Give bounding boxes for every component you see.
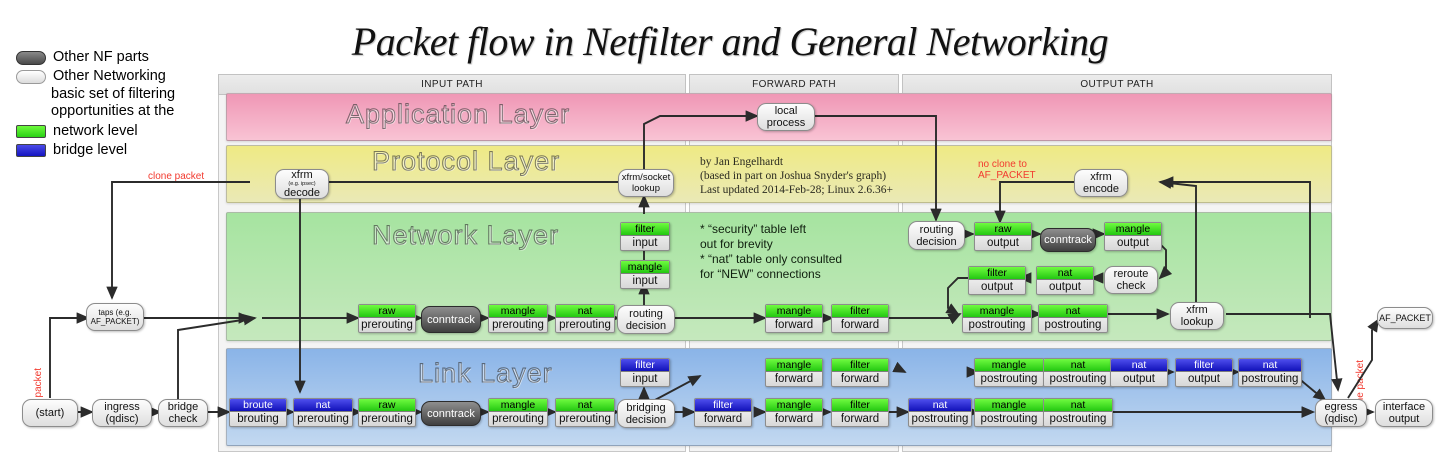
table-name: filter: [832, 305, 888, 318]
node-xfrm-decode[interactable]: xfrm (e.g. ipsec) decode: [275, 169, 329, 199]
node-taps-line2: AF_PACKET): [91, 317, 140, 326]
node-ingress-line1: ingress: [104, 401, 139, 413]
chain-name: postrouting: [975, 412, 1043, 426]
table-box-link-filter-input[interactable]: filter input: [620, 358, 670, 387]
chain-name: output: [1105, 236, 1161, 250]
legend-item-bridge-level: bridge level: [16, 141, 216, 160]
node-conntrack-net-out-label: conntrack: [1044, 234, 1092, 246]
node-routing-decision-output[interactable]: routing decision: [908, 221, 965, 250]
table-name: nat: [294, 399, 352, 412]
node-egress-qdisc[interactable]: egress (qdisc): [1315, 399, 1367, 427]
table-box-net-mangle-postrouting[interactable]: mangle postrouting: [962, 304, 1032, 333]
table-name: nat: [1044, 399, 1112, 412]
node-xfrm-encode[interactable]: xfrm encode: [1074, 169, 1128, 197]
table-box-link-nat-postrouting-lower[interactable]: nat postrouting: [1043, 398, 1113, 427]
diagram-canvas: Other NF parts Other Networking basic se…: [0, 0, 1450, 475]
table-name: filter: [621, 223, 669, 236]
node-reroute-line1: reroute: [1114, 268, 1149, 280]
legend-item-other-networking: Other Networking: [16, 67, 216, 86]
node-xfrm-decode-line1: xfrm: [291, 169, 312, 181]
chain-name: forward: [766, 412, 822, 426]
node-conntrack-network-output[interactable]: conntrack: [1040, 228, 1096, 252]
node-ingress-qdisc[interactable]: ingress (qdisc): [92, 399, 152, 427]
bridge-level-swatch-icon: [16, 144, 46, 157]
node-conntrack-network-input[interactable]: conntrack: [421, 306, 481, 333]
table-name: mangle: [489, 399, 547, 412]
node-conntrack-link-in-label: conntrack: [427, 408, 475, 420]
node-start[interactable]: (start): [22, 399, 78, 427]
no-clone-label-line1: no clone to: [978, 159, 1027, 170]
table-box-link-nat-prerouting-bridge[interactable]: nat prerouting: [293, 398, 353, 427]
table-name: nat: [909, 399, 971, 412]
node-taps-af-packet[interactable]: taps (e.g. AF_PACKET): [86, 303, 144, 331]
table-box-link-nat-postrouting-upper[interactable]: nat postrouting: [1043, 358, 1113, 387]
chain-name: input: [621, 372, 669, 386]
note-line-3: * “nat” table only consulted: [700, 252, 842, 267]
table-name: nat: [1239, 359, 1301, 372]
node-xfrm-lookup[interactable]: xfrm lookup: [1170, 302, 1224, 330]
node-local-process-line1: local: [775, 105, 798, 117]
credit-line-2: (based in part on Joshua Snyder's graph): [700, 169, 886, 183]
table-box-net-nat-prerouting[interactable]: nat prerouting: [555, 304, 615, 333]
node-routing-in-line1: routing: [629, 308, 663, 320]
table-name: mangle: [975, 359, 1043, 372]
node-bridging-line2: decision: [626, 414, 666, 426]
node-xfrm-lookup-line2: lookup: [1181, 316, 1213, 328]
node-xfrm-encode-line2: encode: [1083, 183, 1119, 195]
node-xfrm-socket-line2: lookup: [632, 183, 660, 194]
node-bridge-check-line2: check: [169, 413, 198, 425]
node-egress-line1: egress: [1324, 401, 1357, 413]
table-name: nat: [556, 399, 614, 412]
chain-name: prerouting: [489, 412, 547, 426]
chain-name: postrouting: [1239, 372, 1301, 386]
table-box-net-filter-output[interactable]: filter output: [968, 266, 1026, 295]
node-taps-line1: taps (e.g.: [98, 308, 131, 317]
chain-name: output: [969, 280, 1025, 294]
node-xfrm-socket-line1: xfrm/socket: [622, 172, 671, 183]
page-title: Packet flow in Netfilter and General Net…: [225, 18, 1235, 65]
table-name: filter: [832, 399, 888, 412]
column-header-forward: FORWARD PATH: [689, 74, 899, 95]
table-box-net-mangle-input[interactable]: mangle input: [620, 260, 670, 289]
chain-name: postrouting: [909, 412, 971, 426]
chain-name: forward: [766, 372, 822, 386]
chain-name: prerouting: [359, 318, 415, 332]
table-box-net-mangle-output[interactable]: mangle output: [1104, 222, 1162, 251]
note-line-1: * “security” table left: [700, 222, 806, 237]
chain-name: forward: [832, 318, 888, 332]
legend-note-line1: basic set of filtering: [51, 86, 216, 103]
table-name: filter: [1176, 359, 1232, 372]
node-bridge-check[interactable]: bridge check: [158, 399, 208, 427]
table-name: raw: [359, 399, 415, 412]
chain-name: forward: [832, 412, 888, 426]
table-box-link-nat-prerouting[interactable]: nat prerouting: [555, 398, 615, 427]
table-box-net-mangle-prerouting[interactable]: mangle prerouting: [488, 304, 548, 333]
node-routing-decision-input[interactable]: routing decision: [617, 305, 675, 334]
credit-line-1: by Jan Engelhardt: [700, 155, 783, 169]
node-bridge-check-line1: bridge: [168, 401, 199, 413]
table-name: filter: [621, 359, 669, 372]
table-box-net-raw-output[interactable]: raw output: [974, 222, 1032, 251]
legend: Other NF parts Other Networking basic se…: [16, 48, 216, 160]
node-af-packet-label: AF_PACKET: [1379, 312, 1431, 324]
table-box-net-mangle-forward[interactable]: mangle forward: [765, 304, 823, 333]
note-line-2: out for brevity: [700, 237, 773, 252]
table-box-link-mangle-forward-upper[interactable]: mangle forward: [765, 358, 823, 387]
credit-line-3: Last updated 2014-Feb-28; Linux 2.6.36+: [700, 183, 893, 197]
legend-item-network-level: network level: [16, 122, 216, 141]
table-box-link-raw-prerouting[interactable]: raw prerouting: [358, 398, 416, 427]
table-name: nat: [556, 305, 614, 318]
table-box-net-filter-input[interactable]: filter input: [620, 222, 670, 251]
node-routing-in-line2: decision: [626, 320, 666, 332]
chain-name: input: [621, 274, 669, 288]
chain-name: postrouting: [1044, 412, 1112, 426]
node-xfrm-encode-line1: xfrm: [1090, 171, 1111, 183]
note-line-4: for “NEW” connections: [700, 267, 821, 282]
chain-name: forward: [766, 318, 822, 332]
table-box-net-raw-prerouting[interactable]: raw prerouting: [358, 304, 416, 333]
node-interface-line2: output: [1389, 413, 1420, 425]
chain-name: prerouting: [359, 412, 415, 426]
band-label-protocol: Protocol Layer: [372, 146, 560, 177]
table-box-link-nat-postrouting-bridge-lower[interactable]: nat postrouting: [908, 398, 972, 427]
chain-name: prerouting: [556, 412, 614, 426]
node-bridging-line1: bridging: [626, 402, 665, 414]
node-ingress-line2: (qdisc): [105, 413, 138, 425]
table-name: nat: [1111, 359, 1167, 372]
clone-packet-label-top: clone packet: [148, 171, 204, 182]
table-box-link-broute-brouting[interactable]: broute brouting: [229, 398, 287, 427]
table-box-link-filter-forward-bridge[interactable]: filter forward: [694, 398, 752, 427]
legend-note-line2: opportunities at the: [51, 103, 216, 120]
other-nf-pill-icon: [16, 51, 46, 65]
table-box-link-filter-forward-upper[interactable]: filter forward: [831, 358, 889, 387]
table-box-link-filter-forward-lower[interactable]: filter forward: [831, 398, 889, 427]
chain-name: output: [1037, 280, 1093, 294]
table-box-net-nat-postrouting[interactable]: nat postrouting: [1038, 304, 1108, 333]
node-reroute-check[interactable]: reroute check: [1104, 266, 1158, 294]
table-name: mangle: [766, 305, 822, 318]
band-label-application: Application Layer: [346, 99, 570, 130]
node-interface-output[interactable]: interface output: [1375, 399, 1433, 427]
table-box-net-nat-output[interactable]: nat output: [1036, 266, 1094, 295]
table-box-link-mangle-postrouting-upper[interactable]: mangle postrouting: [974, 358, 1044, 387]
table-name: nat: [1039, 305, 1107, 318]
table-box-net-filter-forward[interactable]: filter forward: [831, 304, 889, 333]
chain-name: prerouting: [489, 318, 547, 332]
chain-name: prerouting: [294, 412, 352, 426]
node-xfrm-lookup-line1: xfrm: [1186, 304, 1207, 316]
table-name: filter: [695, 399, 751, 412]
no-clone-label-line2: AF_PACKET: [978, 170, 1036, 181]
table-name: mangle: [1105, 223, 1161, 236]
table-name: nat: [1044, 359, 1112, 372]
column-header-input: INPUT PATH: [218, 74, 686, 95]
node-local-process-line2: process: [767, 117, 806, 129]
table-box-link-nat-postrouting-bridge-upper[interactable]: nat postrouting: [1238, 358, 1302, 387]
table-name: mangle: [621, 261, 669, 274]
network-level-swatch-icon: [16, 125, 46, 138]
table-name: filter: [832, 359, 888, 372]
node-conntrack-net-in-label: conntrack: [427, 314, 475, 326]
node-xfrm-decode-line2: decode: [284, 187, 320, 199]
chain-name: forward: [695, 412, 751, 426]
node-reroute-line2: check: [1117, 280, 1146, 292]
chain-name: output: [1176, 372, 1232, 386]
table-name: mangle: [766, 399, 822, 412]
table-box-link-mangle-postrouting-lower[interactable]: mangle postrouting: [974, 398, 1044, 427]
band-label-network: Network Layer: [372, 220, 559, 251]
table-name: broute: [230, 399, 286, 412]
other-networking-pill-icon: [16, 70, 46, 84]
table-name: nat: [1037, 267, 1093, 280]
chain-name: postrouting: [963, 318, 1031, 332]
legend-item-other-nf: Other NF parts: [16, 48, 216, 67]
legend-label-bridge-level: bridge level: [53, 141, 127, 160]
table-name: mangle: [489, 305, 547, 318]
table-name: mangle: [963, 305, 1031, 318]
table-box-link-filter-output-bridge[interactable]: filter output: [1175, 358, 1233, 387]
node-xfrm-socket-lookup[interactable]: xfrm/socket lookup: [618, 169, 674, 197]
chain-name: brouting: [230, 412, 286, 426]
node-local-process[interactable]: local process: [757, 103, 815, 131]
legend-label-network-level: network level: [53, 122, 138, 141]
band-label-link: Link Layer: [418, 358, 553, 389]
chain-name: postrouting: [1039, 318, 1107, 332]
table-box-link-mangle-prerouting[interactable]: mangle prerouting: [488, 398, 548, 427]
node-bridging-decision[interactable]: bridging decision: [617, 399, 675, 428]
table-name: filter: [969, 267, 1025, 280]
chain-name: postrouting: [975, 372, 1043, 386]
table-name: mangle: [975, 399, 1043, 412]
node-start-label: (start): [36, 407, 65, 419]
table-name: raw: [359, 305, 415, 318]
chain-name: prerouting: [556, 318, 614, 332]
table-name: mangle: [766, 359, 822, 372]
node-routing-out-line2: decision: [916, 236, 956, 248]
chain-name: output: [1111, 372, 1167, 386]
chain-name: postrouting: [1044, 372, 1112, 386]
node-interface-line1: interface: [1383, 401, 1425, 413]
table-box-link-mangle-forward-lower[interactable]: mangle forward: [765, 398, 823, 427]
chain-name: input: [621, 236, 669, 250]
node-af-packet[interactable]: AF_PACKET: [1377, 307, 1433, 329]
legend-label-other-nf: Other NF parts: [53, 48, 149, 67]
node-routing-out-line1: routing: [920, 224, 954, 236]
node-egress-line2: (qdisc): [1324, 413, 1357, 425]
legend-label-other-networking: Other Networking: [53, 67, 166, 86]
chain-name: output: [975, 236, 1031, 250]
node-conntrack-link-input[interactable]: conntrack: [421, 401, 481, 426]
table-name: raw: [975, 223, 1031, 236]
table-box-link-nat-output-bridge[interactable]: nat output: [1110, 358, 1168, 387]
column-header-output: OUTPUT PATH: [902, 74, 1332, 95]
chain-name: forward: [832, 372, 888, 386]
